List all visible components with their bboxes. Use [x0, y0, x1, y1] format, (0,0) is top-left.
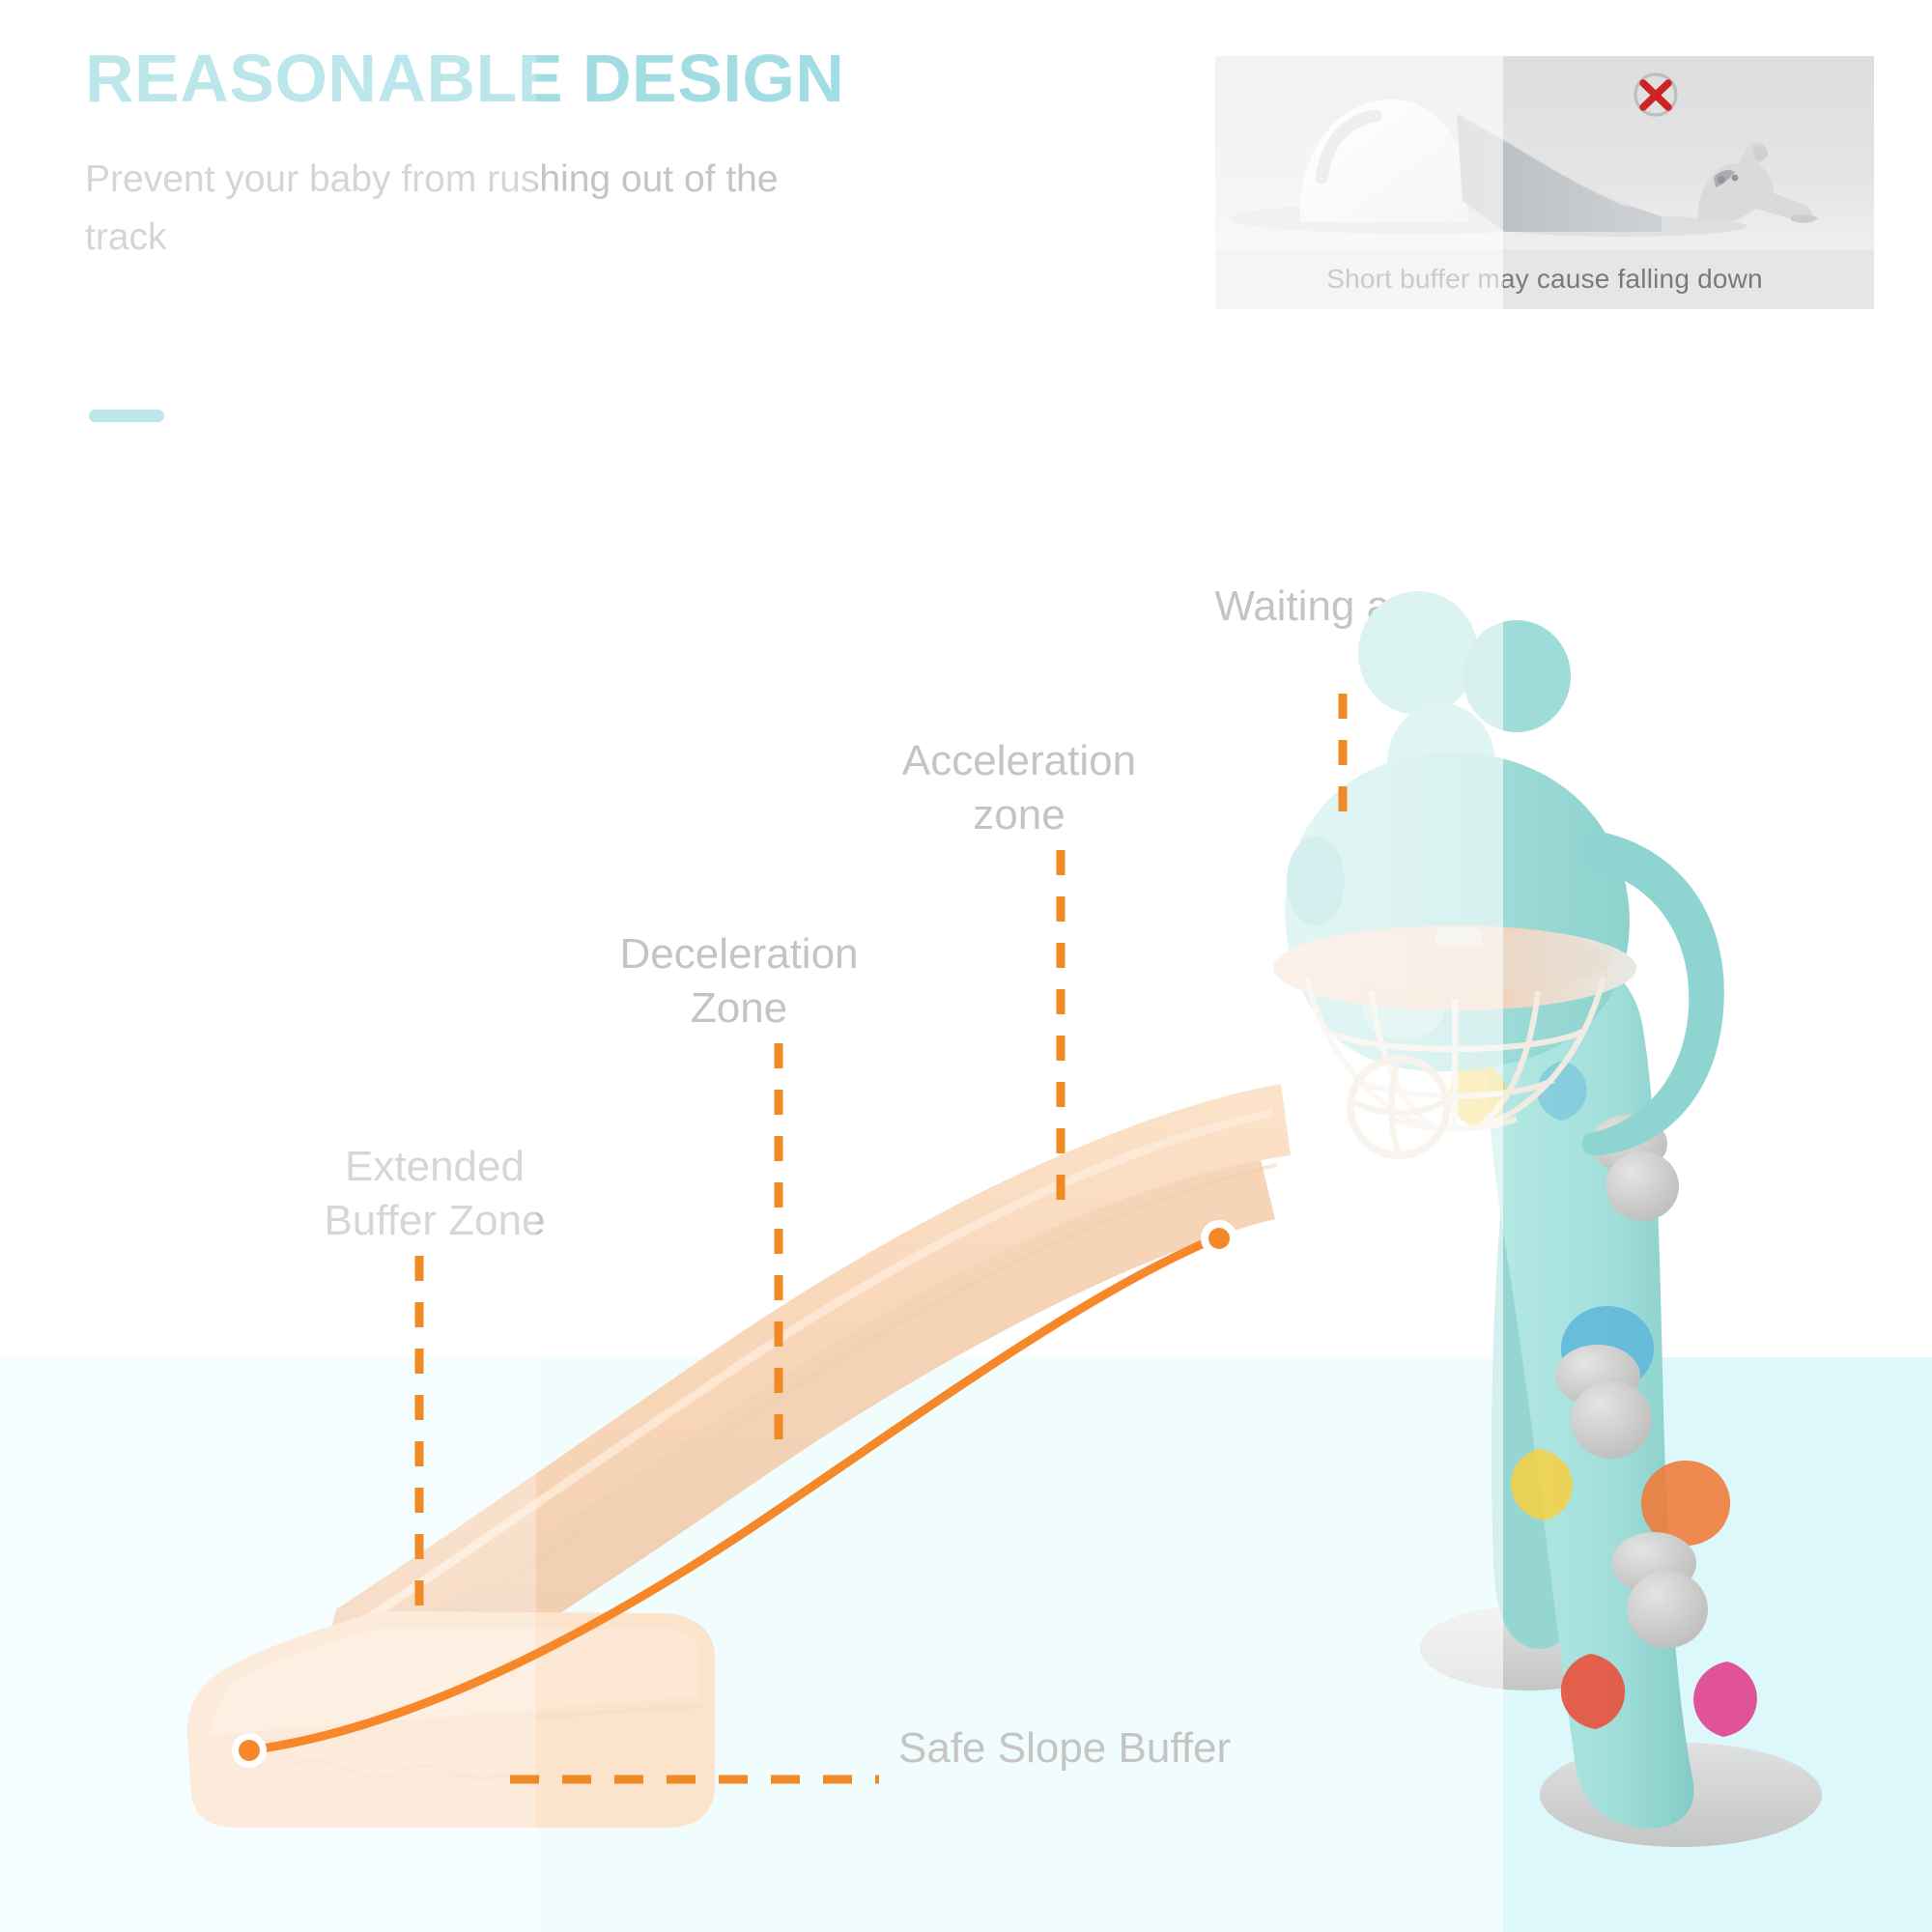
infographic-root: REASONABLE DESIGN Prevent your baby from…: [0, 0, 1932, 1932]
trajectory-line: [249, 1238, 1215, 1750]
marker-slide-bottom: [232, 1733, 267, 1768]
marker-slide-top: [1201, 1220, 1237, 1257]
callout-leader-lines: [0, 0, 1932, 1932]
